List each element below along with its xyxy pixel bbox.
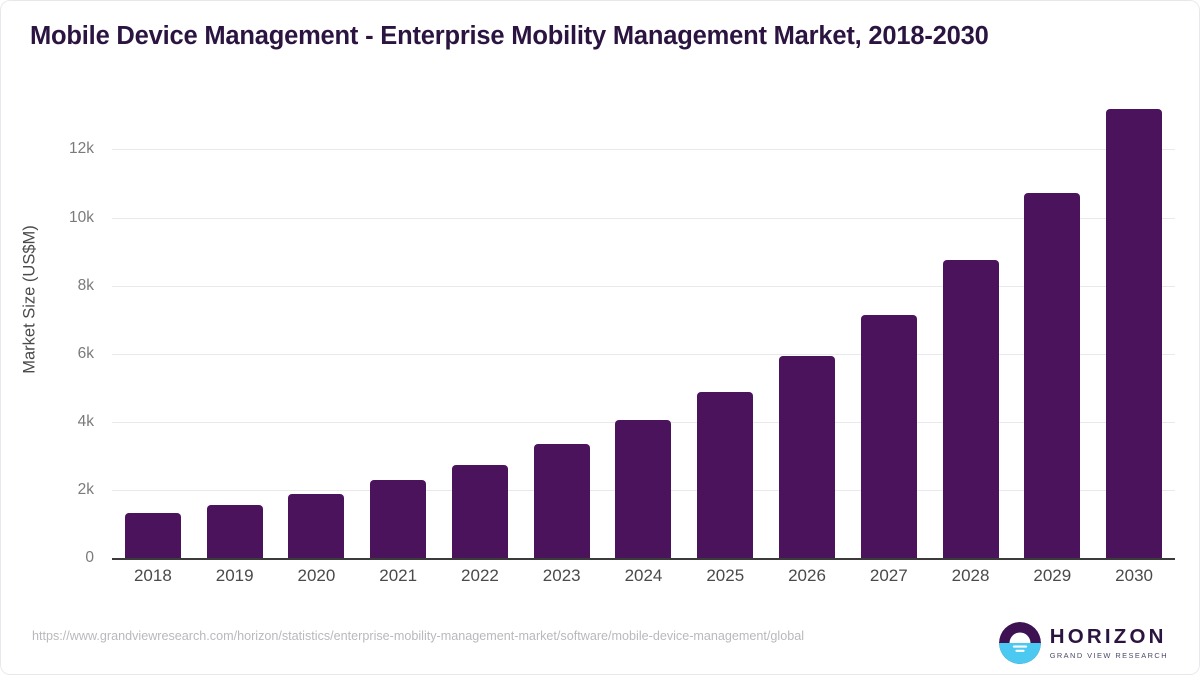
y-axis-tick: 6k — [78, 345, 94, 363]
bar[interactable] — [1106, 109, 1162, 558]
source-url[interactable]: https://www.grandviewresearch.com/horizo… — [32, 628, 972, 644]
y-axis-tick: 4k — [78, 413, 94, 431]
y-axis-tick: 10k — [69, 209, 94, 227]
x-axis-tick: 2030 — [1093, 566, 1175, 586]
y-axis-tick: 12k — [69, 140, 94, 158]
x-axis-tick: 2018 — [112, 566, 194, 586]
x-axis-tick: 2021 — [357, 566, 439, 586]
bar[interactable] — [207, 505, 263, 558]
bar[interactable] — [697, 392, 753, 558]
bar[interactable] — [370, 480, 426, 558]
bar-slot — [766, 95, 848, 558]
bar-slot — [848, 95, 930, 558]
bar-slot — [439, 95, 521, 558]
horizon-logo: HORIZON GRAND VIEW RESEARCH — [999, 620, 1168, 666]
bar-slot — [1011, 95, 1093, 558]
y-axis-tick: 0 — [85, 549, 94, 567]
bar[interactable] — [779, 356, 835, 558]
horizon-logo-tagline: GRAND VIEW RESEARCH — [1050, 652, 1168, 659]
bar[interactable] — [615, 420, 671, 558]
x-axis-tick: 2024 — [603, 566, 685, 586]
chart-card: Mobile Device Management - Enterprise Mo… — [0, 0, 1200, 675]
x-axis-tick: 2027 — [848, 566, 930, 586]
bar[interactable] — [861, 315, 917, 558]
x-axis-tick: 2026 — [766, 566, 848, 586]
x-axis-tick: 2022 — [439, 566, 521, 586]
bar-slot — [1093, 95, 1175, 558]
y-axis-tick: 2k — [78, 481, 94, 499]
bar[interactable] — [452, 465, 508, 558]
y-axis-tick: 8k — [78, 277, 94, 295]
bar-slot — [357, 95, 439, 558]
bar[interactable] — [288, 494, 344, 558]
bar-slot — [112, 95, 194, 558]
bar-slot — [194, 95, 276, 558]
bar-slot — [684, 95, 766, 558]
bar[interactable] — [534, 444, 590, 558]
bar-slot — [276, 95, 358, 558]
x-axis-tick: 2019 — [194, 566, 276, 586]
axis-baseline — [112, 558, 1175, 560]
horizon-logo-icon — [999, 622, 1041, 664]
y-axis-tick-labels: 02k4k6k8k10k12k — [0, 95, 104, 559]
x-axis-tick: 2020 — [276, 566, 358, 586]
x-axis-tick: 2029 — [1011, 566, 1093, 586]
bar-slot — [930, 95, 1012, 558]
bar-slot — [603, 95, 685, 558]
x-axis-tick-labels: 2018201920202021202220232024202520262027… — [112, 566, 1175, 586]
x-axis-tick: 2023 — [521, 566, 603, 586]
bar[interactable] — [1024, 193, 1080, 558]
bar-slot — [521, 95, 603, 558]
bar-series — [112, 95, 1175, 558]
x-axis-tick: 2025 — [684, 566, 766, 586]
bar[interactable] — [125, 513, 181, 558]
horizon-logo-text: HORIZON GRAND VIEW RESEARCH — [1050, 627, 1168, 659]
x-axis-tick: 2028 — [930, 566, 1012, 586]
horizon-logo-wordmark: HORIZON — [1050, 627, 1168, 648]
bar[interactable] — [943, 260, 999, 558]
chart-title: Mobile Device Management - Enterprise Mo… — [30, 22, 1170, 51]
